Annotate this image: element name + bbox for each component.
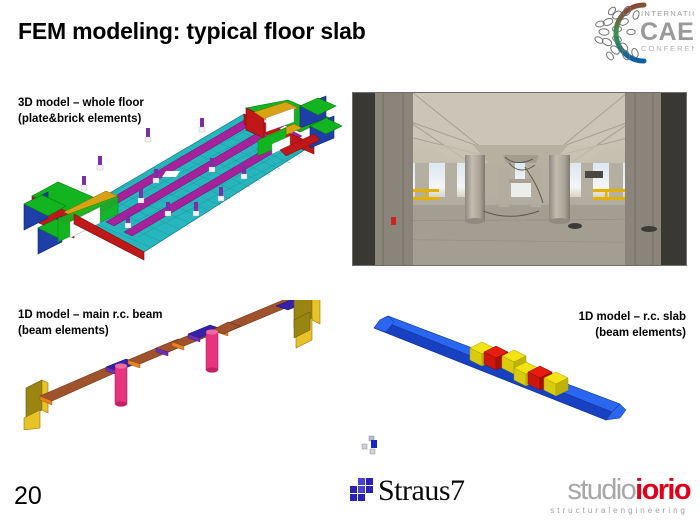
iorio-word-studio: studio	[567, 474, 635, 506]
photo-construction-floor	[352, 92, 687, 266]
page-title: FEM modeling: typical floor slab	[18, 18, 366, 45]
straus7-logo: Straus7	[349, 473, 465, 509]
axis-triad-icon	[352, 428, 392, 462]
straus7-wordmark: Straus7	[378, 476, 465, 506]
caption-1d-slab: 1D model – r.c. slab (beam elements)	[579, 310, 686, 341]
slide-canvas: FEM modeling: typical floor slab	[0, 0, 700, 525]
iorio-wordmark: studioiorio	[550, 476, 690, 505]
iorio-word-iorio: iorio	[635, 474, 690, 506]
cae-logo-line3: CONFERENCE	[641, 44, 694, 53]
caption-slab-line1: 1D model – r.c. slab	[579, 310, 686, 326]
caption-3d-line1: 3D model – whole floor	[18, 96, 144, 112]
caption-1d-beam: 1D model – main r.c. beam (beam elements…	[18, 308, 162, 339]
caption-beam-line1: 1D model – main r.c. beam	[18, 308, 162, 324]
caption-3d-line2: (plate&brick elements)	[18, 112, 144, 128]
international-cae-conference-logo: INTERNATIONAL CAE CONFERENCE	[584, 2, 694, 64]
caption-3d-model: 3D model – whole floor (plate&brick elem…	[18, 96, 144, 127]
caption-beam-line2: (beam elements)	[18, 324, 162, 340]
straus7-mark-icon	[349, 478, 375, 504]
iorio-tagline: structuralengineering	[550, 506, 690, 515]
cae-logo-line2: CAE	[640, 18, 694, 46]
slide-number: 20	[14, 482, 42, 511]
studio-iorio-logo: studioiorio structuralengineering	[550, 476, 690, 515]
caption-slab-line2: (beam elements)	[579, 326, 686, 342]
cae-logo-line1: INTERNATIONAL	[641, 9, 694, 18]
